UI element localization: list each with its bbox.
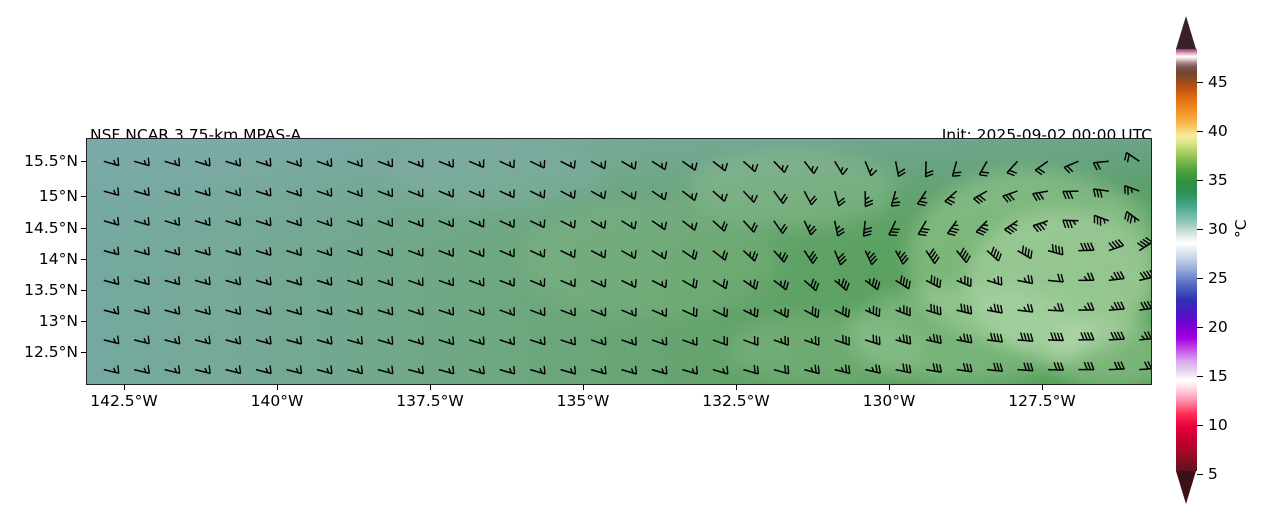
wind-barb-staff: [134, 251, 149, 255]
wind-barb-full: [1057, 333, 1060, 341]
wind-barb-full: [931, 304, 932, 312]
wind-barb-half: [1043, 223, 1047, 226]
wind-barb: [976, 221, 988, 235]
wind-barb: [1063, 191, 1079, 199]
wind-barb-full: [756, 281, 758, 289]
wind-barb-staff: [591, 221, 605, 229]
wind-barb-staff: [317, 280, 332, 285]
wind-barb: [317, 158, 332, 166]
wind-barb-full: [909, 365, 910, 373]
wind-barb: [1139, 301, 1152, 310]
wind-barb-staff: [347, 340, 362, 344]
wind-barb: [926, 249, 939, 264]
wind-barb: [865, 278, 880, 290]
wind-barb: [896, 161, 906, 176]
wind-barb-staff: [439, 191, 453, 197]
y-axis-tick-label: 13°N: [39, 312, 78, 330]
wind-barb-staff: [256, 161, 271, 166]
wind-barb: [530, 249, 544, 257]
wind-barb: [713, 250, 728, 260]
wind-barb-full: [997, 305, 999, 313]
wind-barb-full: [991, 247, 994, 255]
wind-barb: [287, 158, 302, 166]
wind-barb-full: [1024, 333, 1026, 341]
wind-barb: [347, 159, 362, 167]
wind-barb: [1094, 215, 1108, 225]
wind-barb-staff: [134, 161, 149, 165]
wind-barb-staff: [347, 251, 362, 256]
wind-barb-full: [665, 162, 667, 170]
colorbar-tick-label: 10: [1208, 416, 1228, 434]
wind-barb: [317, 188, 332, 196]
wind-barb-staff: [256, 340, 271, 344]
wind-barb-full: [725, 252, 727, 260]
wind-barb-full: [952, 175, 960, 176]
wind-barb-full: [890, 232, 898, 233]
wind-barb-staff: [652, 310, 666, 316]
wind-barb-full: [891, 205, 899, 206]
wind-barb-full: [453, 366, 454, 374]
wind-barb-full: [240, 336, 241, 344]
wind-barb-staff: [835, 161, 843, 174]
wind-barb: [743, 279, 758, 289]
wind-barb-full: [724, 307, 725, 315]
wind-barb: [165, 365, 180, 373]
wind-barb-full: [1061, 274, 1063, 282]
wind-barb-full: [994, 304, 996, 312]
wind-barb: [622, 308, 637, 316]
wind-barb-full: [544, 366, 545, 374]
wind-barb-full: [514, 337, 515, 345]
wind-barb: [1005, 221, 1018, 234]
wind-barb-half: [750, 309, 751, 314]
wind-barb-full: [753, 279, 755, 287]
wind-barb: [926, 304, 941, 315]
wind-barb: [165, 247, 180, 255]
wind-barb-full: [1009, 170, 1017, 173]
wind-barb-full: [1151, 361, 1152, 368]
wind-barb-full: [1031, 251, 1032, 259]
y-axis-tick-label: 15°N: [39, 187, 78, 205]
wind-barb-full: [784, 280, 786, 288]
wind-barb-staff: [652, 370, 667, 374]
wind-barb-full: [1028, 275, 1029, 283]
wind-barb-staff: [287, 251, 302, 256]
wind-barb-full: [997, 334, 999, 342]
wind-barb-full: [270, 247, 271, 255]
x-axis-tick-label: 135°W: [557, 392, 610, 410]
wind-barb-full: [574, 190, 575, 198]
wind-barb-full: [920, 231, 928, 232]
wind-barb: [500, 160, 515, 168]
wind-barb: [134, 336, 149, 344]
wind-barb-staff: [195, 310, 210, 314]
wind-barb-full: [1127, 214, 1129, 222]
wind-barb-staff: [500, 280, 514, 286]
wind-barb: [500, 307, 515, 315]
wind-barb-full: [892, 202, 900, 203]
wind-barb-staff: [287, 280, 302, 285]
wind-barb-full: [1062, 247, 1063, 255]
wind-barb: [774, 308, 789, 318]
wind-barb-full: [118, 158, 119, 166]
wind-barb-staff: [439, 221, 453, 227]
wind-barb-half: [1142, 336, 1145, 340]
wind-barb-full: [331, 366, 332, 374]
x-axis-tick-mark: [736, 385, 737, 390]
wind-barb: [347, 277, 362, 285]
wind-barb-staff: [256, 221, 271, 226]
x-axis-tick-label: 137.5°W: [396, 392, 463, 410]
wind-barb: [891, 191, 900, 206]
wind-barb-staff: [317, 340, 332, 344]
wind-barb-full: [1118, 302, 1122, 309]
wind-barb-staff: [378, 251, 393, 256]
wind-barb-full: [1081, 332, 1084, 339]
wind-barb-full: [922, 229, 930, 230]
wind-barb: [804, 221, 816, 235]
wind-barb: [561, 337, 576, 345]
wind-barb: [561, 308, 576, 316]
wind-barb-half: [750, 252, 751, 257]
wind-barb-full: [423, 336, 424, 344]
wind-barb-full: [331, 307, 332, 315]
wind-barb-staff: [378, 191, 393, 197]
wind-barb-staff: [104, 310, 119, 314]
wind-barb: [652, 251, 667, 259]
wind-barb: [469, 337, 484, 345]
wind-barb: [652, 161, 667, 169]
wind-barb: [743, 365, 758, 374]
wind-barb-full: [1121, 302, 1125, 309]
wind-barb-full: [1121, 332, 1124, 339]
wind-barb-full: [754, 365, 755, 373]
wind-barb: [1003, 191, 1018, 202]
wind-barb: [835, 335, 850, 345]
wind-barb: [1018, 304, 1033, 312]
wind-barb: [957, 276, 971, 287]
wind-barb: [774, 161, 788, 172]
wind-barb-full: [666, 366, 667, 374]
wind-barb-staff: [165, 280, 180, 284]
colorbar-tick-label: 20: [1208, 318, 1228, 336]
wind-barb: [287, 336, 302, 344]
wind-barb-staff: [652, 161, 665, 169]
wind-barb-full: [1088, 273, 1091, 280]
wind-barb-full: [148, 336, 149, 344]
wind-barb-staff: [530, 191, 544, 198]
wind-barb: [987, 363, 1002, 372]
wind-barb: [713, 279, 728, 289]
wind-barb: [256, 306, 271, 314]
wind-barb: [804, 336, 819, 345]
wind-barb-half: [601, 162, 602, 167]
map-axes[interactable]: [86, 138, 1152, 385]
wind-barb: [1109, 332, 1125, 340]
wind-barb-full: [940, 335, 941, 343]
wind-barb-full: [392, 366, 393, 374]
wind-barb: [561, 160, 576, 168]
wind-barb-full: [940, 307, 941, 315]
wind-barb-full: [889, 235, 897, 236]
wind-barb-full: [301, 307, 302, 315]
wind-barb-full: [906, 279, 908, 287]
wind-barb-full: [873, 335, 874, 343]
wind-barb: [957, 334, 972, 343]
wind-barb-full: [757, 309, 758, 317]
wind-barb: [652, 280, 667, 288]
wind-barb-full: [865, 204, 873, 207]
wind-barb-full: [964, 363, 966, 371]
wind-barb: [226, 306, 241, 314]
wind-barb-staff: [104, 280, 119, 284]
wind-barb: [104, 276, 119, 284]
wind-barb-full: [1125, 153, 1127, 161]
wind-barb: [1078, 362, 1094, 370]
wind-barb-staff: [317, 221, 332, 226]
wind-barb-staff: [1048, 280, 1063, 282]
wind-barb-staff: [317, 251, 332, 256]
wind-barb-full: [994, 363, 996, 371]
wind-barb-staff: [165, 191, 180, 195]
wind-barb-staff: [1048, 251, 1063, 255]
wind-barb: [256, 277, 271, 285]
wind-barb-staff: [104, 340, 119, 344]
wind-barb-staff: [682, 370, 697, 374]
wind-barb-full: [240, 158, 241, 166]
wind-barb-staff: [347, 221, 362, 226]
wind-barb: [165, 336, 180, 344]
wind-barb: [317, 248, 332, 256]
x-axis-tick-mark: [889, 385, 890, 390]
wind-barb-full: [906, 364, 907, 372]
wind-barb-full: [979, 230, 987, 233]
wind-barb-full: [994, 333, 996, 341]
wind-barb-full: [118, 217, 119, 225]
wind-barb-full: [483, 337, 484, 345]
wind-barb-full: [871, 170, 877, 176]
wind-barb-full: [754, 225, 758, 232]
wind-barb: [195, 306, 210, 314]
wind-barb-staff: [347, 310, 362, 315]
wind-barb-full: [605, 279, 606, 287]
wind-barb: [713, 161, 728, 171]
wind-barb: [347, 218, 362, 226]
wind-barb: [682, 191, 697, 200]
wind-barb-staff: [945, 191, 957, 201]
wind-barb: [774, 251, 788, 263]
wind-barb: [835, 221, 845, 236]
wind-barb-full: [1091, 303, 1094, 311]
wind-barb-full: [1084, 243, 1087, 250]
wind-barb-half: [1111, 276, 1114, 280]
wind-barb-staff: [561, 161, 575, 168]
wind-barb-full: [970, 335, 972, 343]
wind-barb-full: [362, 307, 363, 315]
wind-barb: [439, 336, 454, 344]
wind-barb-staff: [774, 221, 783, 234]
wind-barb-staff: [287, 340, 302, 344]
wind-barb-full: [934, 277, 935, 285]
y-axis-tick-mark: [81, 196, 86, 197]
wind-barb: [1137, 238, 1152, 251]
wind-barb-staff: [408, 251, 423, 257]
wind-barb-full: [849, 365, 850, 373]
wind-barb-half: [841, 167, 843, 172]
wind-barb-full: [574, 160, 575, 168]
wind-barb: [865, 161, 877, 175]
wind-barb-full: [1059, 246, 1060, 254]
wind-barb-full: [967, 305, 968, 313]
wind-barb-layer: [87, 139, 1152, 385]
wind-barb-staff: [500, 251, 514, 257]
wind-barb-staff: [530, 310, 545, 316]
wind-barb: [743, 251, 757, 262]
wind-barb-full: [1070, 191, 1073, 199]
wind-barb: [287, 218, 302, 226]
wind-barb-full: [209, 158, 210, 166]
wind-barb: [1078, 243, 1094, 251]
wind-barb-full: [1007, 173, 1015, 176]
wind-barb-staff: [987, 370, 1002, 372]
wind-barb-full: [209, 336, 210, 344]
wind-barb: [500, 190, 515, 198]
wind-barb-staff: [287, 191, 302, 196]
wind-barb: [195, 365, 210, 373]
wind-barb-full: [843, 306, 844, 314]
wind-barb-staff: [591, 310, 605, 316]
wind-barb-full: [605, 161, 606, 169]
wind-barb: [469, 248, 484, 256]
wind-barb-full: [1088, 332, 1091, 340]
wind-barb-full: [752, 223, 756, 230]
wind-barb-staff: [408, 280, 423, 285]
wind-barb: [945, 191, 957, 205]
wind-barb-staff: [622, 340, 637, 345]
wind-barb-full: [362, 336, 363, 344]
wind-barb-full: [148, 158, 149, 166]
wind-barb: [896, 364, 911, 373]
wind-barb: [591, 250, 606, 258]
wind-barb-full: [301, 218, 302, 226]
wind-barb-full: [949, 231, 957, 233]
wind-barb-staff: [439, 280, 454, 285]
wind-barb-staff: [317, 370, 332, 374]
wind-barb-full: [605, 366, 606, 374]
wind-barb-staff: [561, 191, 575, 198]
wind-barb: [774, 336, 789, 345]
wind-barb: [1048, 303, 1064, 311]
wind-barb: [226, 336, 241, 344]
wind-barb: [1018, 333, 1033, 342]
wind-barb-staff: [378, 340, 393, 344]
wind-barb-staff: [469, 280, 484, 286]
colorbar[interactable]: [1176, 16, 1197, 504]
wind-barb-staff: [378, 221, 393, 227]
wind-barb-full: [695, 162, 697, 170]
wind-barb-full: [240, 247, 241, 255]
wind-barb: [378, 218, 393, 226]
wind-barb-half: [601, 251, 602, 256]
wind-barb: [378, 336, 393, 344]
wind-barb-full: [209, 247, 210, 255]
wind-barb: [439, 366, 454, 374]
wind-barb-staff: [134, 280, 149, 284]
wind-barb-full: [755, 164, 758, 172]
wind-barb-full: [423, 307, 424, 315]
wind-barb-full: [815, 365, 816, 373]
wind-barb: [256, 336, 271, 344]
y-axis-tick-mark: [81, 321, 86, 322]
wind-barb-staff: [378, 310, 393, 315]
wind-barb-full: [785, 165, 788, 172]
wind-barb-staff: [957, 370, 972, 372]
wind-barb: [226, 365, 241, 373]
wind-barb-staff: [408, 161, 423, 167]
wind-barb-staff: [134, 310, 149, 314]
wind-barb-full: [999, 253, 1002, 261]
wind-barb-staff: [591, 191, 604, 199]
wind-barb-full: [453, 307, 454, 315]
wind-barb-full: [635, 279, 636, 287]
wind-barb: [865, 191, 873, 207]
wind-barb: [378, 277, 393, 285]
wind-barb-staff: [561, 340, 576, 345]
wind-barb-full: [301, 158, 302, 166]
wind-barb-full: [514, 366, 515, 374]
wind-barb: [1109, 362, 1125, 370]
wind-barb-full: [846, 308, 847, 316]
wind-barb-full: [392, 336, 393, 344]
wind-barb-staff: [591, 280, 605, 287]
wind-barb: [591, 366, 606, 374]
wind-barb-half: [898, 251, 900, 256]
wind-barb-full: [1057, 362, 1060, 370]
wind-barb: [469, 219, 484, 227]
wind-barb: [408, 307, 423, 315]
wind-barb-half: [571, 192, 572, 197]
wind-barb-staff: [652, 340, 667, 345]
wind-barb-full: [1051, 333, 1054, 341]
wind-barb: [408, 218, 423, 226]
wind-barb-staff: [561, 221, 575, 228]
wind-barb-full: [697, 366, 698, 374]
wind-barb-full: [1063, 192, 1066, 199]
wind-barb-full: [1081, 243, 1084, 250]
wind-barb: [561, 190, 576, 198]
wind-barb: [500, 278, 514, 286]
wind-barb-full: [996, 251, 999, 259]
wind-barb-full: [575, 337, 576, 345]
wind-barb-staff: [408, 221, 423, 227]
wind-barb-full: [994, 249, 997, 257]
wind-barb-half: [781, 309, 782, 314]
wind-barb: [226, 188, 241, 196]
wind-barb-full: [635, 191, 636, 199]
wind-barb-full: [1084, 362, 1087, 370]
wind-barb-staff: [1139, 308, 1152, 310]
wind-barb-full: [1100, 190, 1102, 198]
wind-barb-full: [665, 192, 667, 200]
wind-barb-staff: [500, 370, 515, 374]
wind-barb-staff: [896, 340, 911, 344]
wind-barb: [1048, 244, 1063, 255]
wind-barb: [530, 160, 545, 168]
wind-barb-staff: [500, 221, 514, 228]
colorbar-tick-label: 35: [1208, 171, 1228, 189]
x-axis-tick-label: 127.5°W: [1008, 392, 1075, 410]
wind-barb: [317, 366, 332, 374]
